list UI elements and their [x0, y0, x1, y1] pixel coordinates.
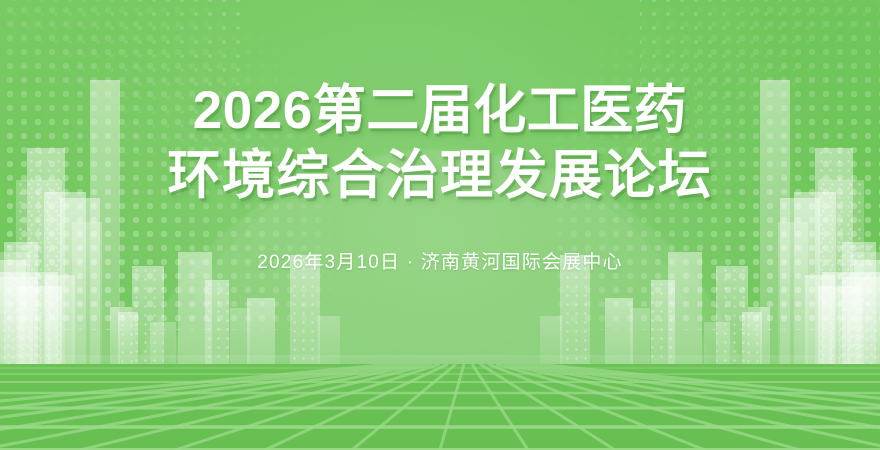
event-banner: 2026第二届化工医药 环境综合治理发展论坛 2026年3月10日 · 济南黄河… [0, 0, 880, 450]
banner-title-line-2: 环境综合治理发展论坛 [168, 143, 713, 208]
banner-content: 2026第二届化工医药 环境综合治理发展论坛 2026年3月10日 · 济南黄河… [0, 0, 880, 450]
banner-title-line-1: 2026第二届化工医药 [193, 78, 687, 143]
banner-subtitle: 2026年3月10日 · 济南黄河国际会展中心 [257, 250, 622, 276]
